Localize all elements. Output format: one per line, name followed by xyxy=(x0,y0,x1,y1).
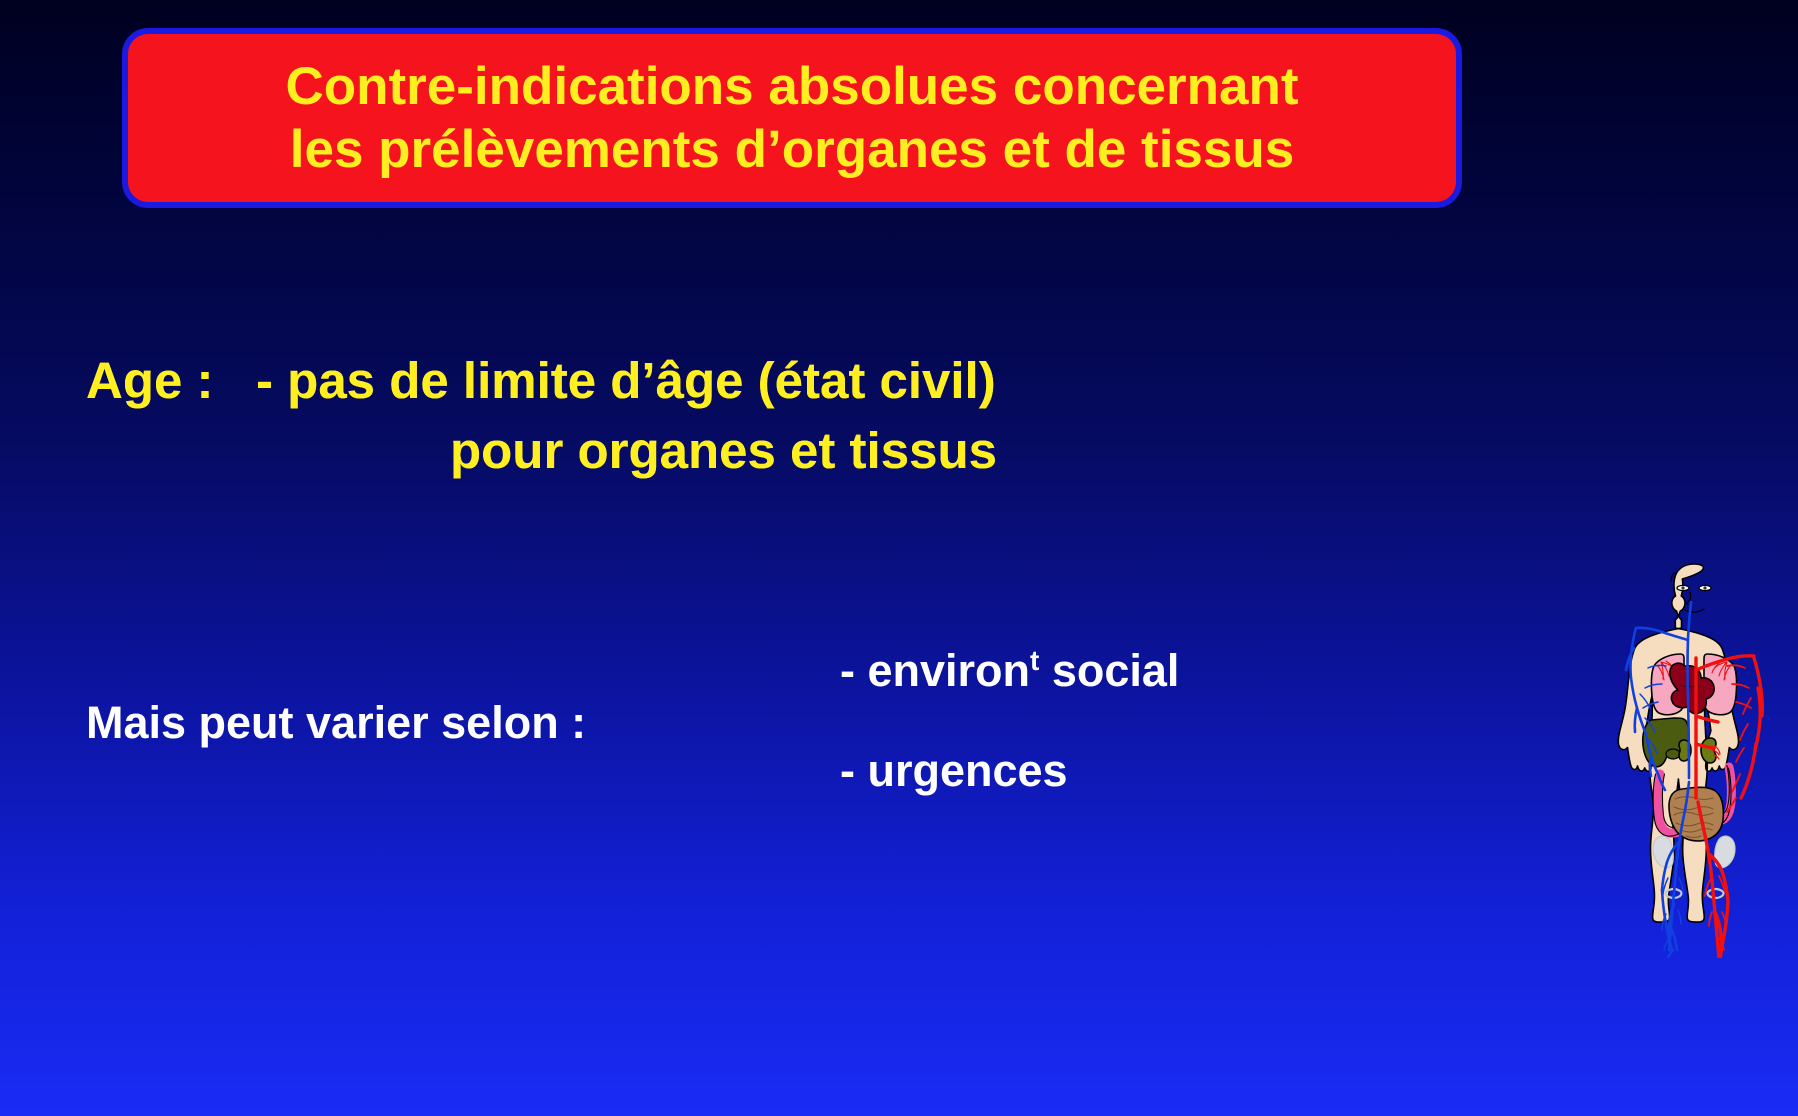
bullet-social-prefix: - environ xyxy=(840,645,1030,696)
bullet-social-suffix: social xyxy=(1039,645,1179,696)
title-line-2: les prélèvements d’organes et de tissus xyxy=(290,118,1294,181)
varier-label: Mais peut varier selon : xyxy=(86,697,586,749)
bullet-item-urgences: - urgences xyxy=(840,748,1360,793)
title-line-1: Contre-indications absolues concernant xyxy=(285,55,1298,118)
bullet-list: - environt social - urgences xyxy=(840,648,1360,793)
human-anatomy-figure-icon xyxy=(1588,558,1798,958)
slide-canvas: Contre-indications absolues concernant l… xyxy=(0,0,1798,1116)
title-banner: Contre-indications absolues concernant l… xyxy=(122,28,1462,208)
bullet-urgences-prefix: - urgences xyxy=(840,745,1068,796)
bullet-item-social: - environt social xyxy=(840,648,1360,693)
bullet-social-superscript: t xyxy=(1030,645,1039,676)
age-section: Age : - pas de limite d’âge (état civil)… xyxy=(86,346,1336,487)
age-line-1: Age : - pas de limite d’âge (état civil) xyxy=(86,346,1336,416)
age-line-2: pour organes et tissus xyxy=(86,416,1336,486)
